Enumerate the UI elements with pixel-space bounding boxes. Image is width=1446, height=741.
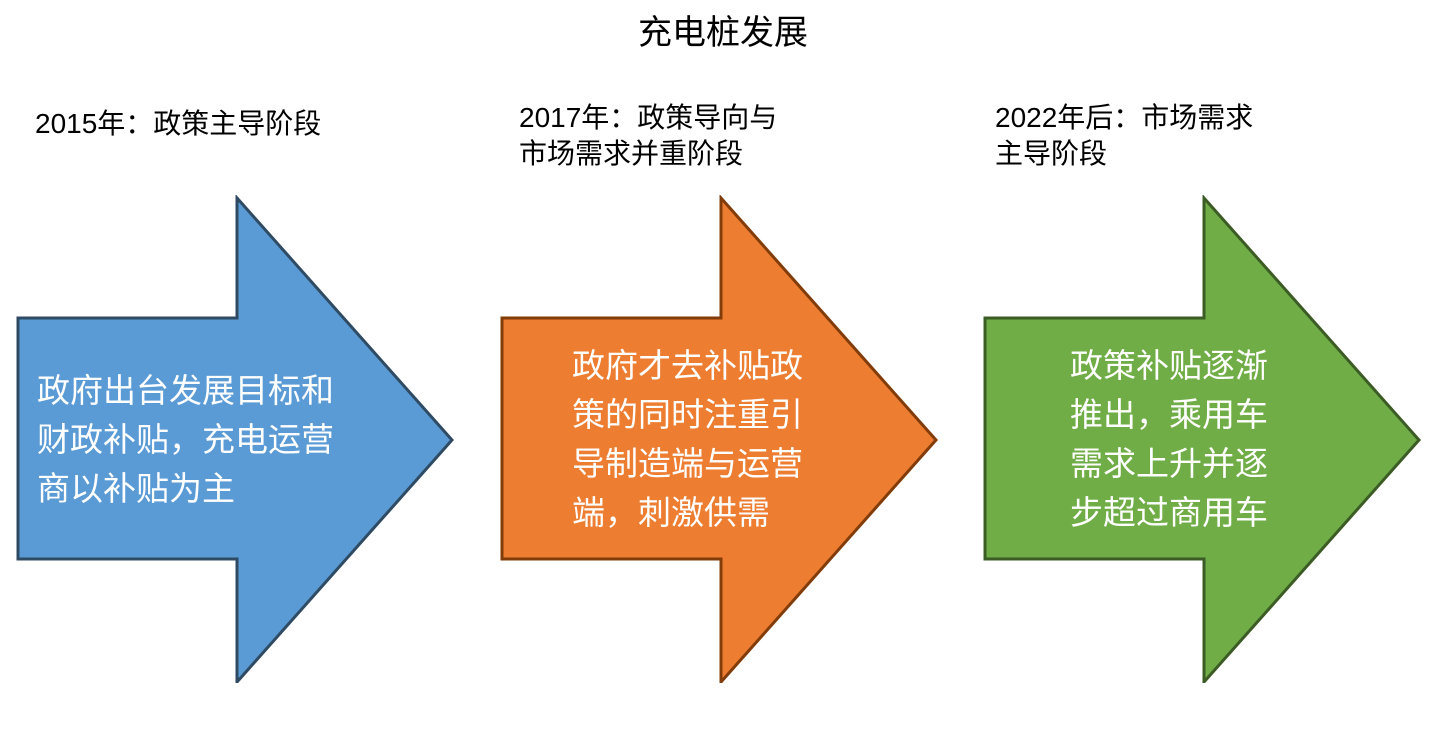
arrow-stage-3[interactable]: 政策补贴逐渐 推出，乘用车 需求上升并逐 步超过商用车 — [982, 195, 1422, 683]
stage-heading-1: 2015年：政策主导阶段 — [35, 106, 465, 142]
arrow-stage-1[interactable]: 政府出台发展目标和 财政补贴，充电运营 商以补贴为主 — [15, 195, 455, 683]
stage-heading-2: 2017年：政策导向与 市场需求并重阶段 — [519, 100, 919, 172]
arrow-shape-2 — [502, 198, 936, 682]
slide-canvas: 充电桩发展 2015年：政策主导阶段 2017年：政策导向与 市场需求并重阶段 … — [0, 0, 1446, 741]
right-arrow-icon — [499, 195, 939, 683]
arrow-shape-1 — [18, 198, 452, 682]
arrow-shape-3 — [985, 198, 1419, 682]
right-arrow-icon — [982, 195, 1422, 683]
stage-heading-3: 2022年后：市场需求 主导阶段 — [995, 100, 1395, 172]
right-arrow-icon — [15, 195, 455, 683]
page-title: 充电桩发展 — [0, 10, 1446, 56]
arrow-stage-2[interactable]: 政府才去补贴政 策的同时注重引 导制造端与运营 端，刺激供需 — [499, 195, 939, 683]
